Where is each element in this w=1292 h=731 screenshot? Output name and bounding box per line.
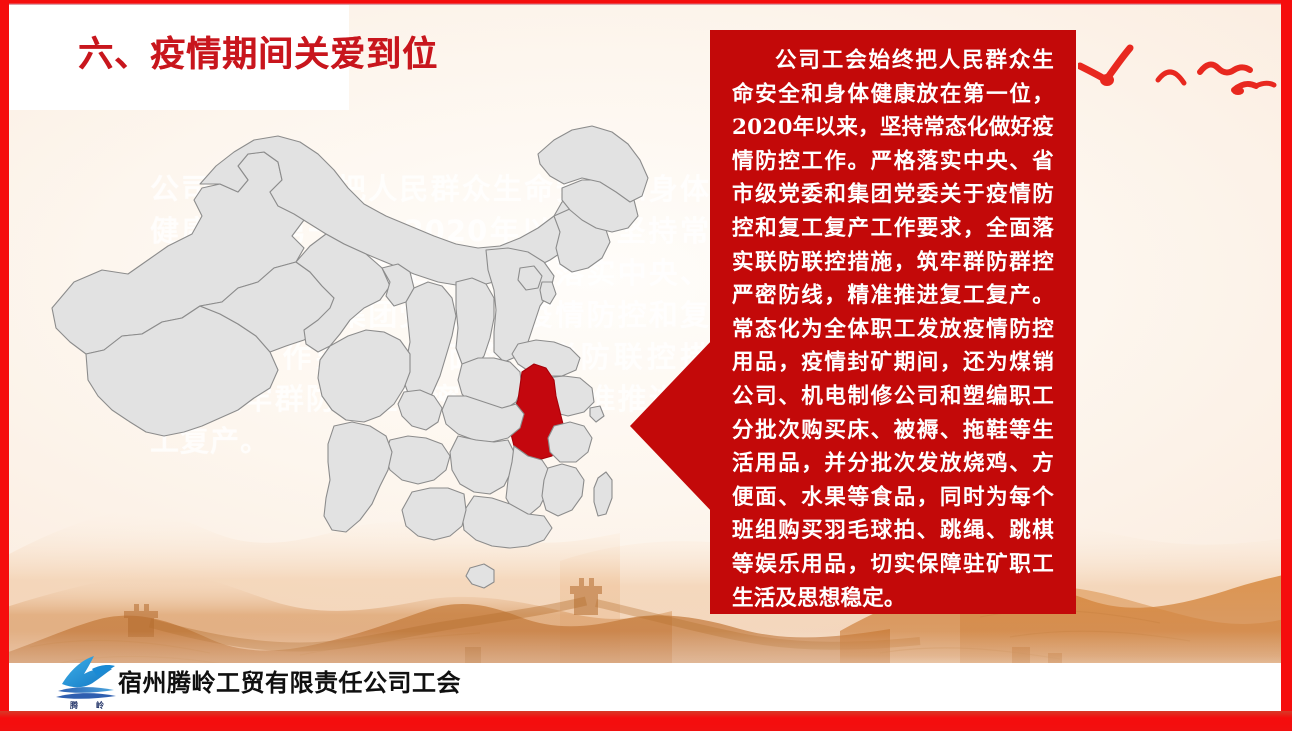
flying-birds-icon <box>1078 28 1283 123</box>
province-yunnan <box>324 422 392 532</box>
china-map <box>42 96 702 626</box>
municipality-shanghai <box>590 406 604 422</box>
frame-left <box>0 0 9 731</box>
organization-name: 宿州腾岭工贸有限责任公司工会 <box>118 663 461 698</box>
text-panel: 公司工会始终把人民群众生命安全和身体健康放在第一位，2020年以来，坚持常态化做… <box>710 30 1076 614</box>
slide-canvas: 公司工会始终把人民群众生命安全和身体健康放在第一位，2020年以来，坚持常态化做… <box>0 0 1292 731</box>
frame-bottom <box>0 711 1292 731</box>
province-shaanxi <box>404 282 456 404</box>
province-shanxi <box>456 278 494 368</box>
province-guangxi <box>402 488 466 540</box>
province-hainan <box>466 564 494 588</box>
svg-text:腾: 腾 <box>69 700 79 709</box>
municipality-tianjin <box>540 282 556 304</box>
province-zhejiang <box>548 422 592 462</box>
svg-text:岭: 岭 <box>96 700 104 709</box>
province-taiwan <box>594 472 612 516</box>
province-hunan <box>450 436 514 494</box>
callout-arrow <box>628 338 714 514</box>
panel-body-text: 公司工会始终把人民群众生命安全和身体健康放在第一位，2020年以来，坚持常态化做… <box>732 44 1054 615</box>
frame-top <box>0 0 1292 5</box>
province-guizhou <box>384 436 450 484</box>
page-title: 六、疫情期间关爱到位 <box>78 26 438 77</box>
province-fujian <box>542 464 584 516</box>
municipality-chongqing <box>398 390 442 430</box>
frame-right <box>1281 0 1292 731</box>
